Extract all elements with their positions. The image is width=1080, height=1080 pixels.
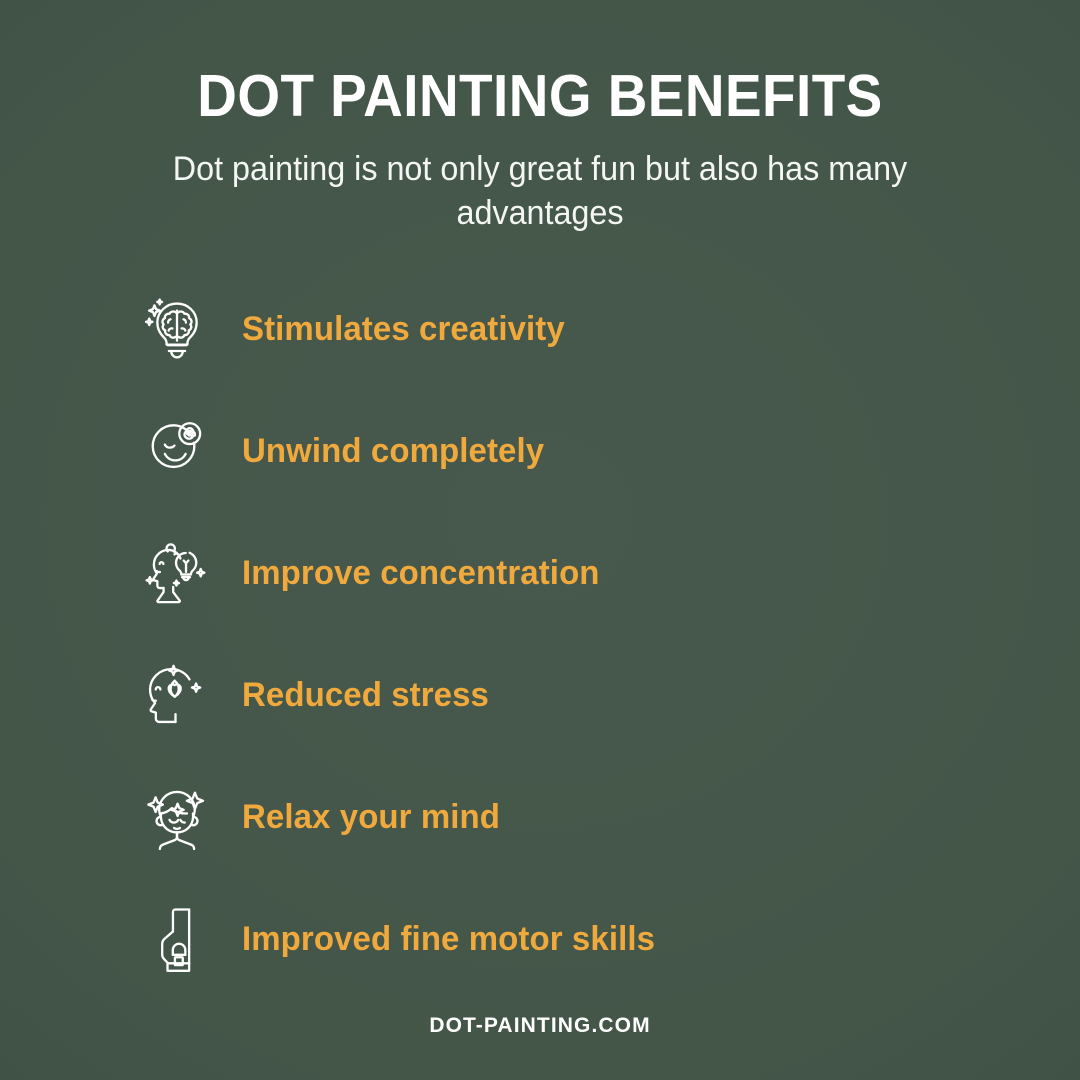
poster-header: DOT PAINTING BENEFITS Dot painting is no… <box>0 0 1080 235</box>
list-item: Improve concentration <box>138 523 611 623</box>
benefit-label: Stimulates creativity <box>242 310 565 349</box>
list-item: Improved fine motor skills <box>138 889 668 989</box>
hand-pinch-icon <box>138 900 216 978</box>
benefit-label: Reduced stress <box>242 676 489 715</box>
website-url: DOT-PAINTING.COM <box>429 1014 650 1037</box>
benefit-label: Relax your mind <box>242 798 500 837</box>
page-title: DOT PAINTING BENEFITS <box>38 66 1042 126</box>
benefits-list: Stimulates creativity Unw <box>0 279 1080 1011</box>
list-item: Unwind completely <box>138 401 554 501</box>
list-item: Stimulates creativity <box>138 279 575 379</box>
poster-canvas: DOT PAINTING BENEFITS Dot painting is no… <box>0 0 1080 1080</box>
benefit-label: Unwind completely <box>242 432 544 471</box>
head-profile-lightbulb-icon <box>138 534 216 612</box>
head-profile-lotus-icon <box>138 656 216 734</box>
page-subtitle: Dot painting is not only great fun but a… <box>165 148 916 235</box>
list-item: Reduced stress <box>138 645 497 745</box>
poster-footer: DOT-PAINTING.COM <box>0 1014 1080 1038</box>
list-item: Relax your mind <box>138 767 508 867</box>
benefit-label: Improve concentration <box>242 554 600 593</box>
brain-lightbulb-icon <box>138 290 216 368</box>
smiling-face-flower-icon <box>138 412 216 490</box>
benefit-label: Improved fine motor skills <box>242 920 655 959</box>
calm-face-sparkles-icon <box>138 778 216 856</box>
